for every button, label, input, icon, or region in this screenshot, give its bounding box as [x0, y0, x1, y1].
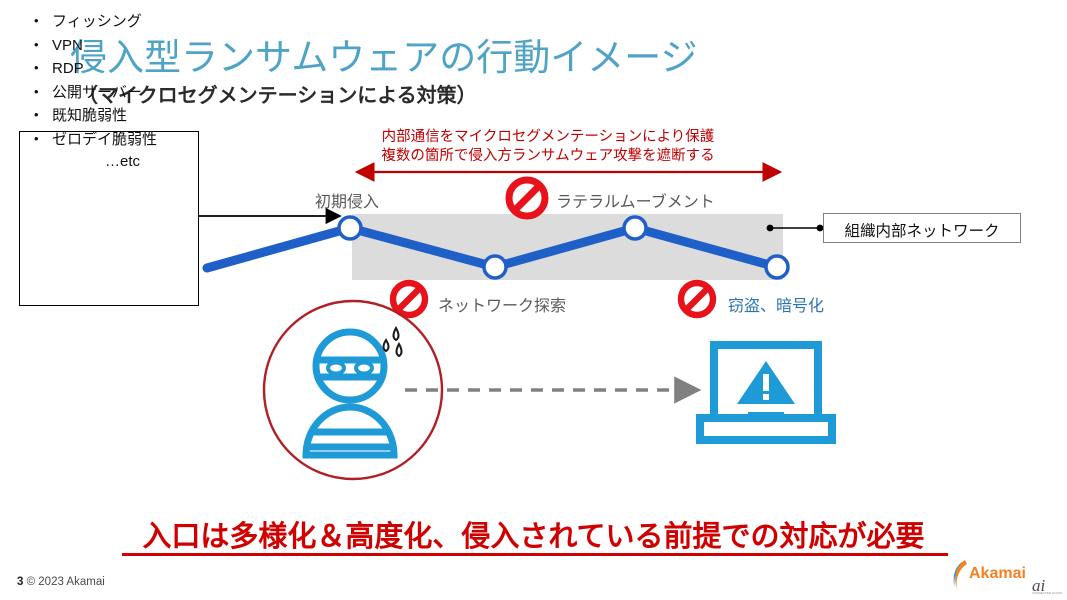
stage-label-network-discovery: ネットワーク探索	[438, 292, 566, 316]
entry-vector-list: フィッシング VPN RDP 公開サーバー 既知脆弱性 ゼロデイ脆弱性	[34, 10, 157, 151]
copyright-text: © 2023 Akamai	[27, 576, 105, 588]
attacker-circle	[264, 301, 442, 479]
victim-laptop-icon	[700, 345, 832, 440]
org-network-callout: 組織内部ネットワーク	[823, 213, 1021, 243]
stage-label-exfiltration-encryption: 窃盗、暗号化	[728, 292, 824, 316]
list-item: 公開サーバー	[34, 81, 157, 105]
annotation-line-2: 複数の箇所で侵入方ランサムウェア攻撃を遮断する	[338, 147, 758, 166]
prohibition-icon	[509, 180, 545, 216]
akamai-logo: Akamai ai CONNECTED CLOUD	[952, 558, 1062, 594]
bottom-headline: 入口は多様化＆高度化、侵入されている前提での対応が必要	[0, 513, 1067, 555]
page-title: 侵入型ランサムウェアの行動イメージ	[70, 36, 698, 80]
org-network-label: 組織内部ネットワーク	[824, 219, 1020, 241]
list-item: ゼロデイ脆弱性	[34, 128, 157, 152]
list-item: VPN	[34, 34, 157, 58]
stage-label-lateral-movement: ラテラルムーブメント	[556, 188, 715, 212]
logo-tagline: CONNECTED CLOUD	[1032, 591, 1062, 594]
logo-wordmark: Akamai	[969, 565, 1026, 582]
protection-annotation: 内部通信をマイクロセグメンテーションにより保護 複数の箇所で侵入方ランサムウェア…	[338, 128, 758, 166]
prohibition-icon	[681, 283, 713, 315]
list-item: 既知脆弱性	[34, 104, 157, 128]
page-number: 3	[17, 576, 23, 588]
footer: 3 © 2023 Akamai	[17, 576, 105, 588]
prohibition-icon	[393, 283, 425, 315]
annotation-line-1: 内部通信をマイクロセグメンテーションにより保護	[338, 128, 758, 147]
internal-network-band	[352, 214, 783, 280]
attacker-icon	[306, 332, 394, 455]
slide-canvas: 侵入型ランサムウェアの行動イメージ （マイクロセグメンテーションによる対策） フ…	[0, 0, 1067, 600]
entry-vector-etc: …etc	[105, 153, 140, 170]
list-item: RDP	[34, 57, 157, 81]
bottom-headline-underline	[122, 553, 948, 556]
stage-label-initial-intrusion: 初期侵入	[315, 188, 379, 212]
sweat-drop-icon	[384, 328, 402, 356]
list-item: フィッシング	[34, 10, 157, 34]
